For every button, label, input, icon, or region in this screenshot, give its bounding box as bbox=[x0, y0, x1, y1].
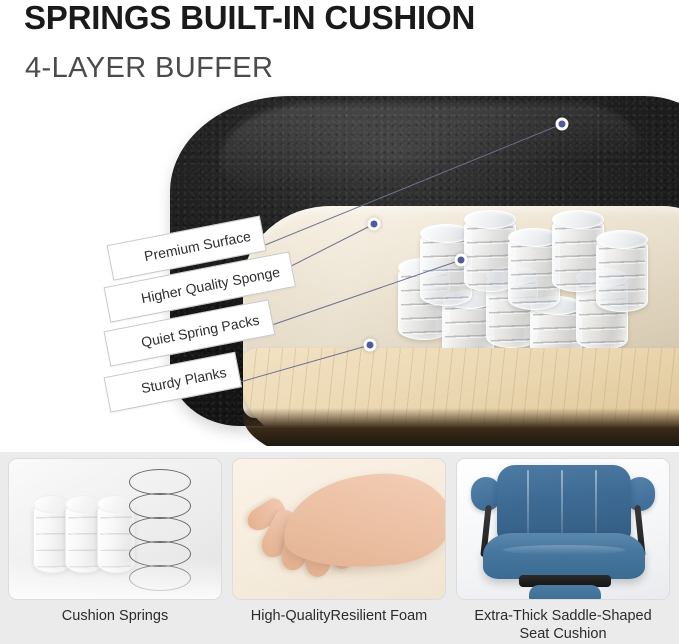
page-title: SPRINGS BUILT-IN CUSHION bbox=[24, 0, 475, 37]
plank-under-edge bbox=[243, 408, 679, 446]
callout-dot-quiet-spring-packs[interactable] bbox=[455, 254, 468, 267]
feature-strip: Cushion Springs High-QualityResilient Fo… bbox=[0, 452, 679, 644]
callout-dot-sturdy-planks[interactable] bbox=[364, 339, 377, 352]
leather-sheen bbox=[220, 104, 640, 194]
callout-dot-higher-quality-sponge[interactable] bbox=[368, 218, 381, 231]
chair-backrest bbox=[497, 465, 631, 543]
chair-footrest bbox=[529, 585, 601, 600]
chair-seat-cushion bbox=[483, 533, 645, 579]
feature-card-saddle-seat[interactable] bbox=[456, 458, 670, 600]
callout-dot-premium-surface[interactable] bbox=[556, 118, 569, 131]
reflection-floor bbox=[9, 559, 221, 599]
feature-caption-resilient-foam: High-QualityResilient Foam bbox=[232, 608, 446, 626]
page-subtitle: 4-LAYER BUFFER bbox=[25, 52, 273, 85]
feature-card-cushion-springs[interactable] bbox=[8, 458, 222, 600]
spring-coil bbox=[596, 236, 648, 312]
feature-card-resilient-foam[interactable] bbox=[232, 458, 446, 600]
cutaway-illustration bbox=[0, 86, 679, 446]
product-infographic: SPRINGS BUILT-IN CUSHION 4-LAYER BUFFER bbox=[0, 0, 679, 644]
feature-caption-saddle-seat: Extra-Thick Saddle-Shaped Seat Cushion bbox=[456, 608, 670, 643]
feature-caption-cushion-springs: Cushion Springs bbox=[8, 608, 222, 626]
